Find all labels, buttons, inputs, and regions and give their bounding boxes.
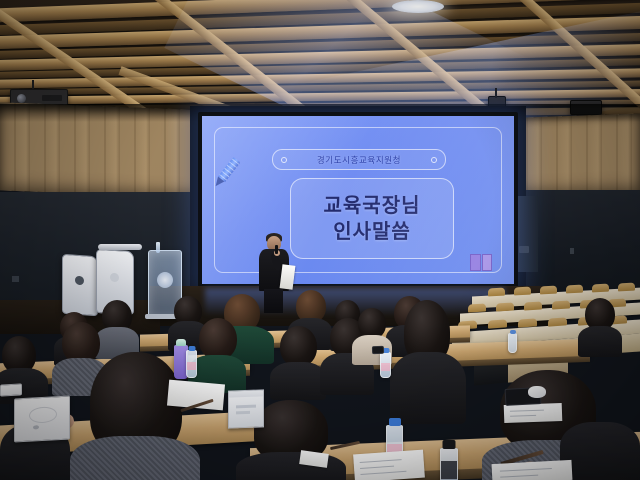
- white-product-box: [14, 396, 70, 443]
- microphone: [275, 245, 278, 254]
- wall-outlet-2: [570, 248, 574, 254]
- water-bottle: [186, 350, 197, 378]
- auditorium-photo: 경기도시흥교육지원청 교육국장님 인사말씀: [0, 0, 640, 480]
- handout-paper: [504, 403, 563, 423]
- badge-dot-left: [281, 157, 287, 163]
- audience-member: [578, 298, 622, 354]
- slide-content: 경기도시흥교육지원청 교육국장님 인사말씀: [202, 116, 514, 284]
- water-bottle: [508, 333, 517, 353]
- wall-outlet: [519, 246, 529, 253]
- audience-member: [270, 326, 326, 396]
- handout-paper: [492, 460, 573, 480]
- equipment-cart: [62, 254, 98, 317]
- open-book-icon: [470, 254, 492, 269]
- slide-title-line-1: 교육국장님: [324, 196, 421, 216]
- lectern-bottle: [156, 242, 160, 253]
- ceiling-light: [392, 0, 444, 13]
- presenter-papers: [280, 264, 296, 289]
- white-product-box-small: [0, 383, 22, 396]
- lectern-emblem: [157, 272, 173, 288]
- slide-header-badge: 경기도시흥교육지원청: [272, 149, 446, 170]
- audience-member-long-hair: [390, 300, 466, 420]
- badge-dot-right: [431, 157, 437, 163]
- slide-title-line-2: 인사말씀: [333, 222, 411, 242]
- handout-paper: [353, 450, 425, 480]
- projector-mount: [32, 80, 34, 89]
- slide-title-card: 교육국장님 인사말씀: [290, 178, 454, 259]
- wood-panel-wall-right: [512, 114, 640, 196]
- wall-outlet-3: [12, 276, 19, 282]
- projection-screen: 경기도시흥교육지원청 교육국장님 인사말씀: [198, 112, 518, 288]
- tissue: [528, 386, 546, 398]
- slide-header-text: 경기도시흥교육지원청: [317, 154, 401, 166]
- cart-handle: [98, 244, 142, 250]
- water-bottle-black-cap: [440, 448, 458, 480]
- milk-carton-box: [228, 389, 264, 428]
- water-bottle: [380, 352, 391, 378]
- smartphone: [372, 346, 384, 354]
